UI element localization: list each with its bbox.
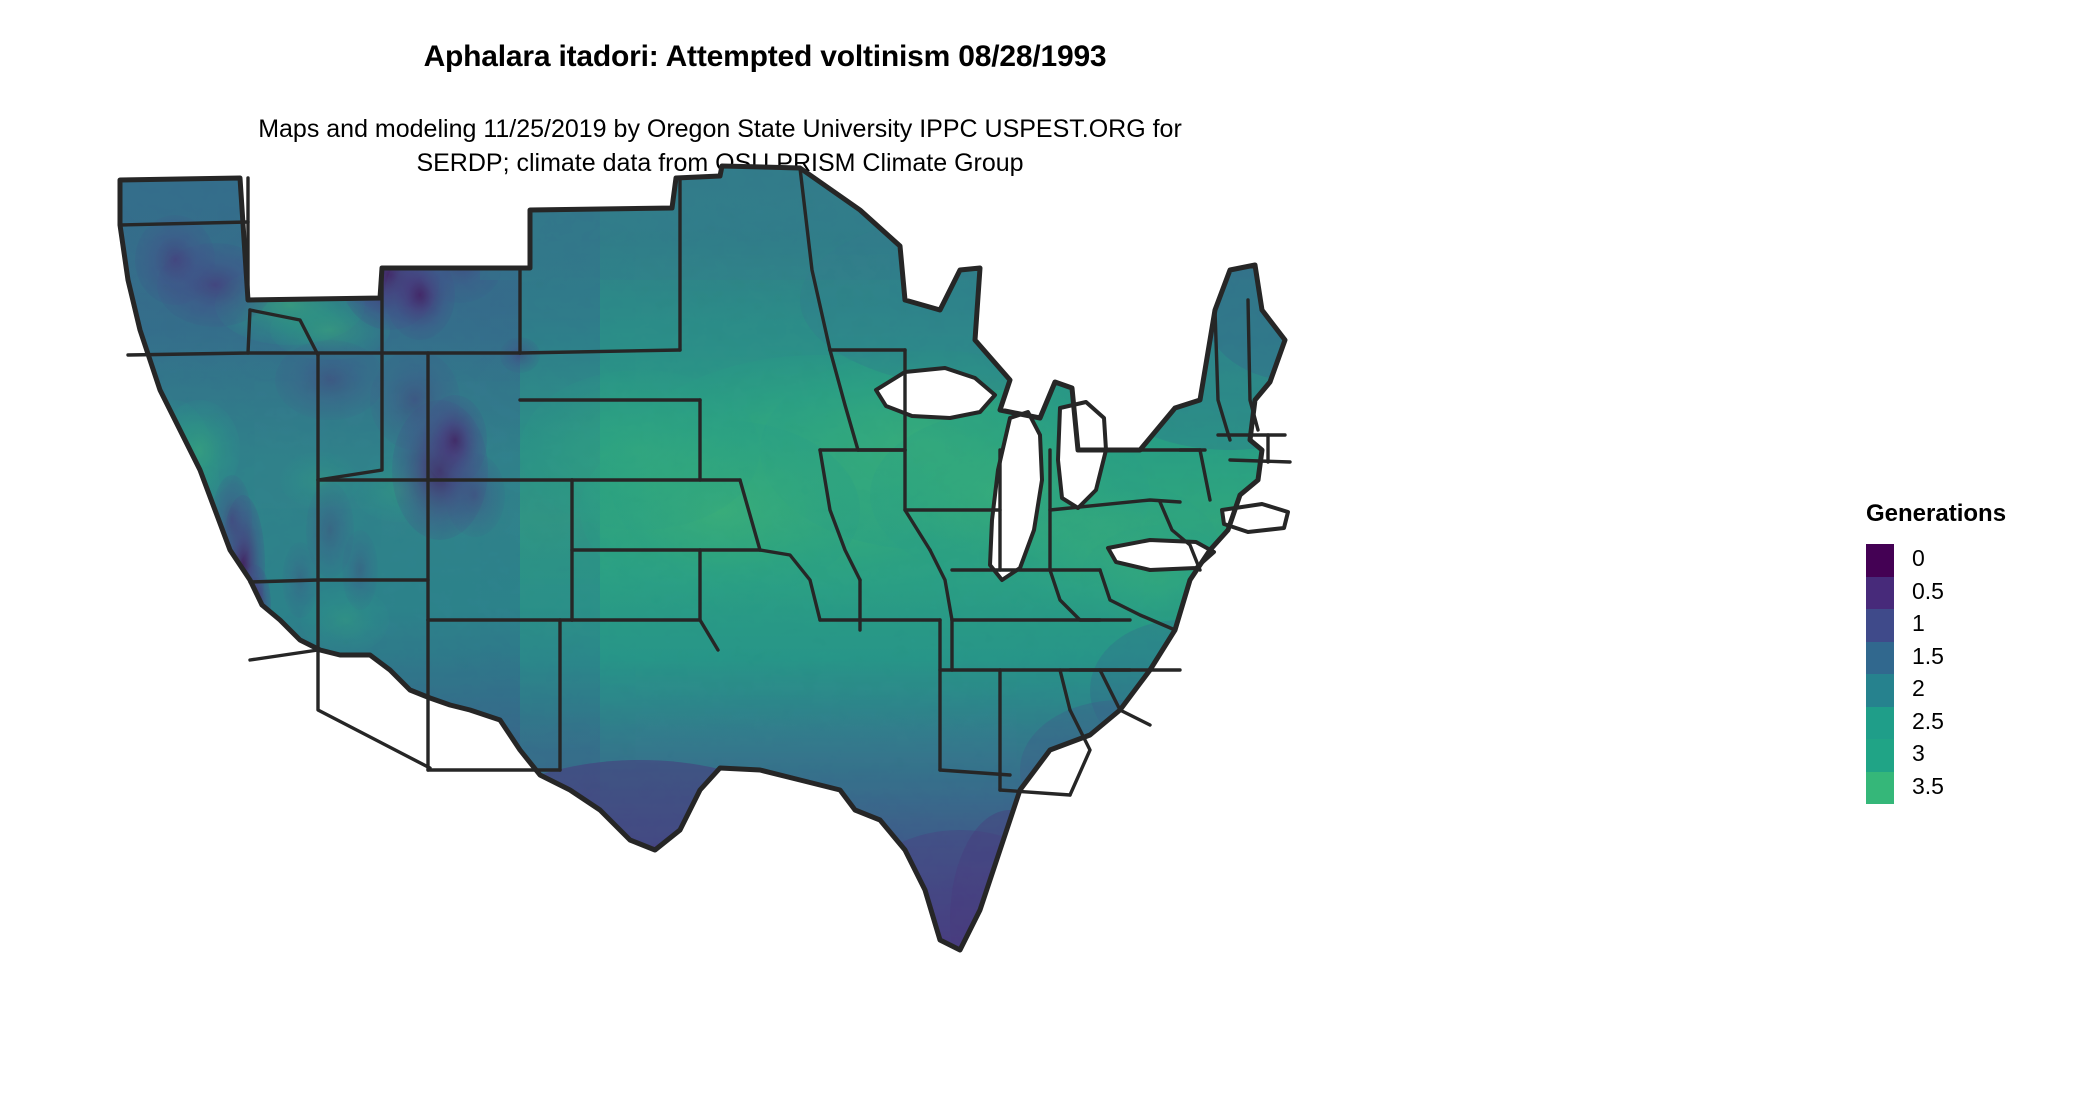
- map-canvas: [0, 150, 1560, 1030]
- legend: Generations 0 0.5 1 1.5 2: [1838, 500, 2078, 804]
- legend-row: 0: [1866, 544, 2078, 577]
- legend-row: 1: [1866, 609, 2078, 642]
- legend-label: 1.5: [1912, 642, 1944, 670]
- legend-label: 2.5: [1912, 707, 1944, 735]
- legend-row: 3: [1866, 739, 2078, 772]
- us-voltinism-raster-map: [0, 150, 1560, 1030]
- legend-swatch: [1866, 609, 1894, 642]
- figure-title: Aphalara itadori: Attempted voltinism 08…: [0, 40, 1530, 74]
- legend-title: Generations: [1866, 500, 2078, 528]
- legend-label: 3.5: [1912, 772, 1944, 800]
- legend-swatch: [1866, 772, 1894, 805]
- legend-label: 0.5: [1912, 577, 1944, 605]
- legend-label: 0: [1912, 544, 1925, 572]
- legend-label: 3: [1912, 739, 1925, 767]
- legend-swatch: [1866, 674, 1894, 707]
- legend-row: 1.5: [1866, 642, 2078, 675]
- legend-swatch: [1866, 642, 1894, 675]
- legend-swatch: [1866, 707, 1894, 740]
- voltinism-raster-layer: [0, 150, 1560, 1030]
- legend-row: 3.5: [1866, 772, 2078, 805]
- legend-swatch: [1866, 739, 1894, 772]
- legend-row: 2: [1866, 674, 2078, 707]
- legend-row: 0.5: [1866, 577, 2078, 610]
- legend-swatch: [1866, 577, 1894, 610]
- legend-label: 2: [1912, 674, 1925, 702]
- subtitle-line-1: Maps and modeling 11/25/2019 by Oregon S…: [0, 112, 1440, 146]
- map-figure: Aphalara itadori: Attempted voltinism 08…: [0, 0, 2099, 1116]
- legend-row: 2.5: [1866, 707, 2078, 740]
- legend-color-scale: 0 0.5 1 1.5 2 2.5: [1866, 544, 2078, 804]
- legend-label: 1: [1912, 609, 1925, 637]
- legend-swatch: [1866, 544, 1894, 577]
